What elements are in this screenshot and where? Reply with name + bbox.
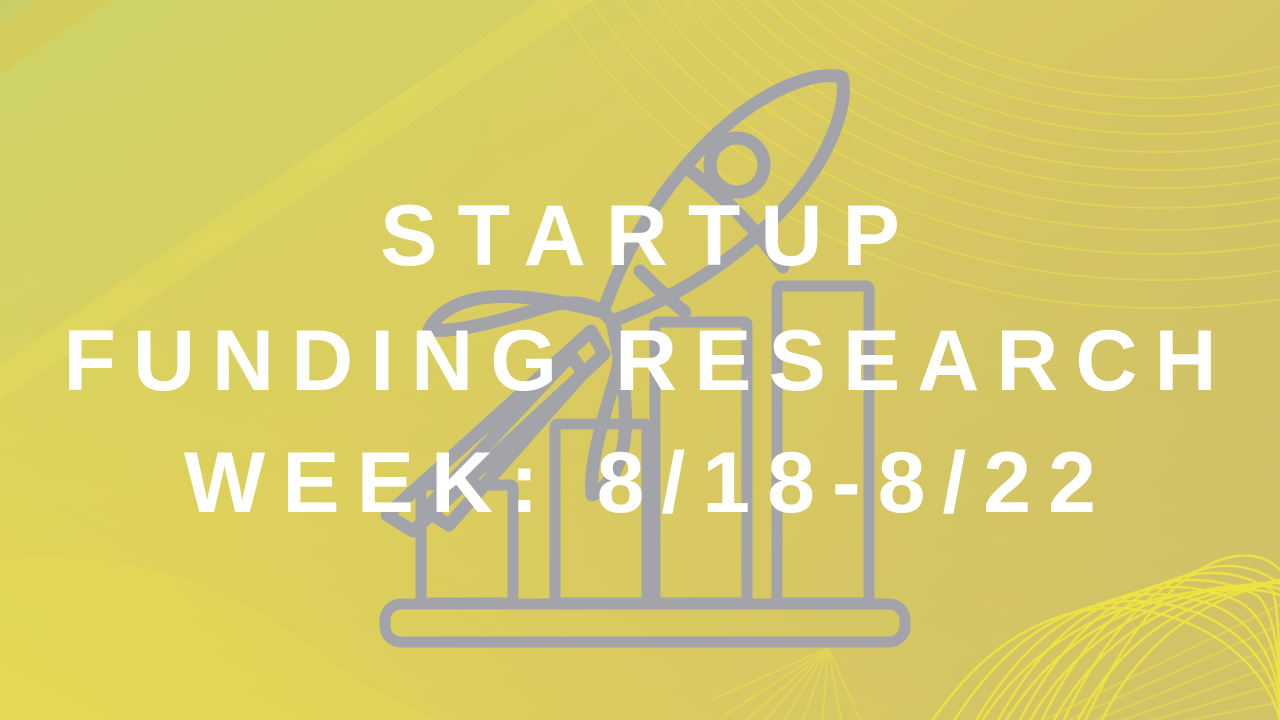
slide-canvas: STARTUP FUNDING RESEARCH WEEK: 8/18-8/22 — [0, 0, 1280, 720]
title-line-funding-research: FUNDING RESEARCH — [46, 318, 1233, 404]
title-line-week-range: WEEK: 8/18-8/22 — [167, 440, 1113, 526]
title-block: STARTUP FUNDING RESEARCH WEEK: 8/18-8/22 — [0, 0, 1280, 720]
title-line-startup: STARTUP — [360, 193, 920, 279]
